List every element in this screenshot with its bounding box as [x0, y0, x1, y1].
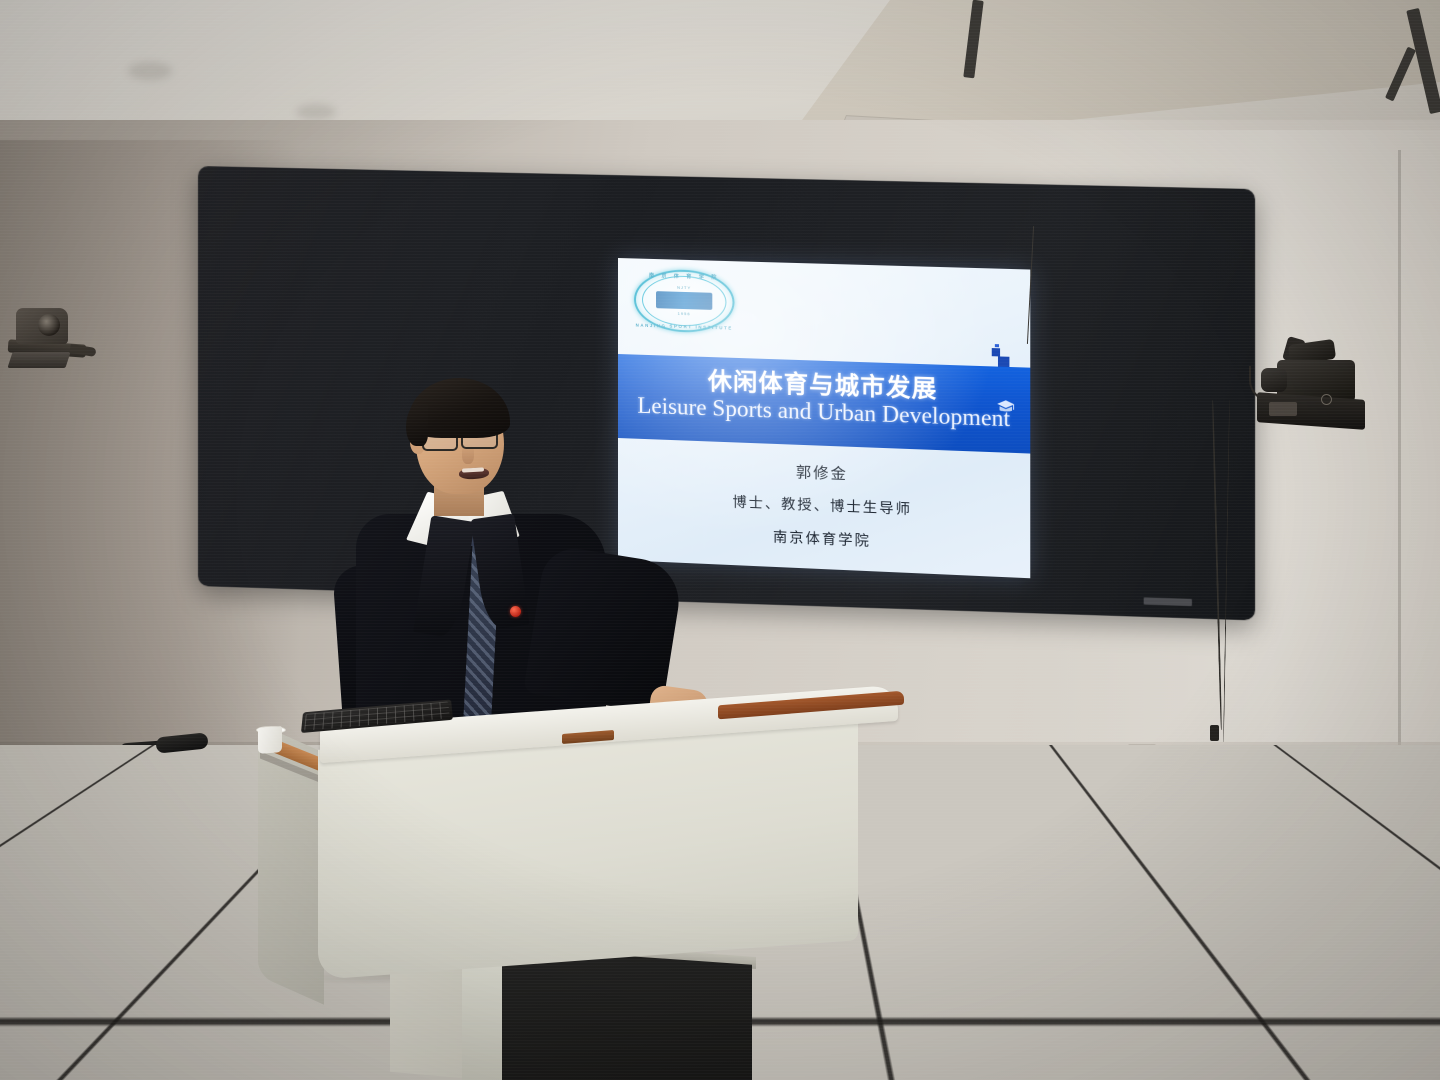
camera-lens: [1261, 368, 1287, 392]
camera-mount-highlight: [1269, 402, 1297, 416]
video-camera-icon: [1255, 336, 1381, 434]
ptz-camera-icon: [8, 306, 104, 380]
ceiling-mark: [128, 62, 172, 80]
ceiling-mark: [296, 104, 336, 120]
wall-outlet[interactable]: [210, 897, 242, 925]
hair-side: [406, 404, 428, 446]
decor-square-tiny-icon: [995, 344, 999, 347]
red-lapel-pin-icon: [510, 606, 521, 617]
paper-cup-icon[interactable]: [258, 726, 282, 754]
decor-square-small-icon: [992, 348, 1000, 356]
institution-seal-icon: 南 京 体 育 学 院 NJTY 1956 NANJING SPORT INST…: [634, 268, 735, 333]
lectern: [262, 690, 902, 1080]
camera-mount-plate: [7, 352, 70, 368]
camera-mount-screw: [1321, 394, 1332, 405]
camera-lens: [38, 314, 60, 336]
graduation-cap-icon: [996, 399, 1016, 415]
cable-plug: [1210, 725, 1219, 741]
lectern-display-panel[interactable]: [502, 947, 752, 1080]
chair[interactable]: [1365, 898, 1440, 1080]
lecture-hall-photo: 南 京 体 育 学 院 NJTY 1956 NANJING SPORT INST…: [0, 0, 1440, 1080]
wall-corner-seam: [1398, 150, 1401, 790]
blackboard-brand-label: [1144, 597, 1192, 606]
seal-center-plate: [656, 291, 712, 310]
